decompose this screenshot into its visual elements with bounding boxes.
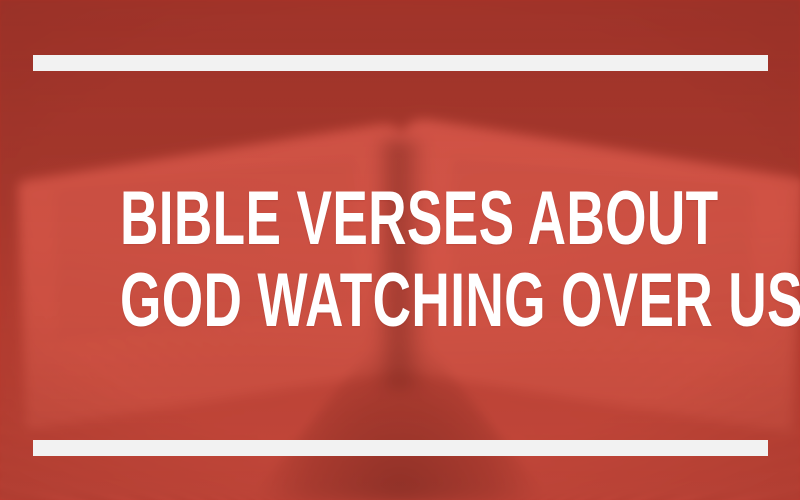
title-line-1: BIBLE VERSES ABOUT [120, 178, 680, 260]
top-divider-rule [33, 55, 768, 71]
banner: BIBLE VERSES ABOUT GOD WATCHING OVER US [0, 0, 800, 500]
banner-title: BIBLE VERSES ABOUT GOD WATCHING OVER US [0, 178, 800, 342]
title-line-2: GOD WATCHING OVER US [120, 260, 680, 342]
bottom-divider-rule [33, 440, 768, 456]
banner-content: BIBLE VERSES ABOUT GOD WATCHING OVER US [0, 0, 800, 500]
